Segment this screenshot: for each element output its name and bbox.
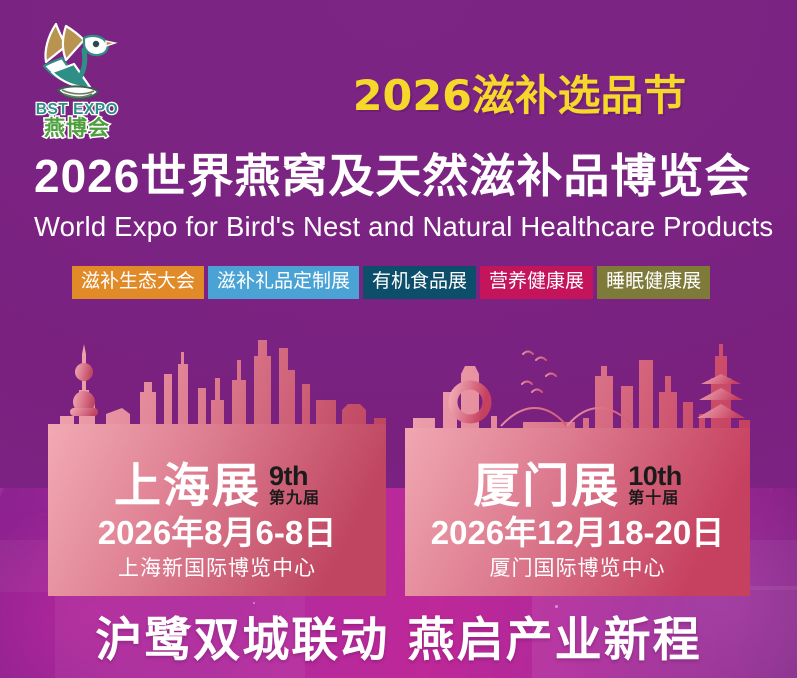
tag-sleep-health[interactable]: 睡眠健康展 — [597, 266, 710, 299]
shanghai-city-name: 上海展 — [114, 460, 261, 512]
svg-text:燕博会: 燕博会 — [44, 116, 110, 139]
expo-poster: BST EXPO 燕博会 2026滋补选品节 2026世界燕窝及天然滋补品博览会… — [0, 0, 797, 678]
tag-ecology-conference[interactable]: 滋补生态大会 — [72, 266, 204, 299]
tag-gift-customization[interactable]: 滋补礼品定制展 — [208, 266, 359, 299]
shanghai-ordinal-en: 9th — [269, 461, 308, 491]
city-card-group: 上海展 9th 第九届 2026年8月6-8日 上海新国际博览中心 — [0, 330, 797, 598]
xiamen-city-row: 厦门展 10th 第十届 — [415, 460, 740, 512]
xiamen-card-text: 厦门展 10th 第十届 2026年12月18-20日 厦门国际博览中心 — [405, 460, 750, 596]
swiftlet-bird-icon — [44, 24, 115, 99]
page-title-cn: 2026世界燕窝及天然滋补品博览会 — [34, 152, 764, 200]
shanghai-ordinal-cn: 第九届 — [269, 490, 320, 507]
shanghai-ordinal: 9th 第九届 — [269, 462, 320, 512]
shanghai-city-row: 上海展 9th 第九届 — [58, 460, 376, 512]
shanghai-venue: 上海新国际博览中心 — [58, 556, 376, 582]
sparkle-dot — [555, 605, 558, 608]
bst-expo-logo: BST EXPO 燕博会 — [22, 14, 132, 139]
birds-icon — [522, 352, 556, 393]
city-card-shanghai[interactable]: 上海展 9th 第九届 2026年8月6-8日 上海新国际博览中心 — [48, 330, 386, 596]
bridge-icon — [497, 398, 637, 426]
festival-kicker: 2026滋补选品节 — [353, 75, 686, 117]
xiamen-date: 2026年12月18-20日 — [415, 514, 740, 552]
theme-tag-row: 滋补生态大会 滋补礼品定制展 有机食品展 营养健康展 睡眠健康展 — [72, 266, 710, 299]
xiamen-city-name: 厦门展 — [473, 460, 620, 512]
shanghai-date: 2026年8月6-8日 — [58, 514, 376, 552]
pagoda-icon — [697, 374, 745, 418]
tag-organic-food[interactable]: 有机食品展 — [363, 266, 476, 299]
city-card-xiamen[interactable]: 厦门展 10th 第十届 2026年12月18-20日 厦门国际博览中心 — [405, 330, 750, 596]
logo-text-group: BST EXPO 燕博会 — [36, 101, 118, 139]
xiamen-ordinal-en: 10th — [628, 461, 682, 491]
sparkle-dot — [253, 602, 255, 604]
tag-nutrition-health[interactable]: 营养健康展 — [480, 266, 593, 299]
xiamen-ordinal-cn: 第十届 — [628, 490, 679, 507]
svg-text:BST EXPO: BST EXPO — [36, 101, 118, 118]
footer-slogan: 沪鹭双城联动 燕启产业新程 — [0, 612, 797, 670]
xiamen-ordinal: 10th 第十届 — [628, 462, 682, 512]
shanghai-card-text: 上海展 9th 第九届 2026年8月6-8日 上海新国际博览中心 — [48, 460, 386, 596]
page-title-en: World Expo for Bird's Nest and Natural H… — [34, 212, 774, 242]
xiamen-venue: 厦门国际博览中心 — [415, 556, 740, 582]
